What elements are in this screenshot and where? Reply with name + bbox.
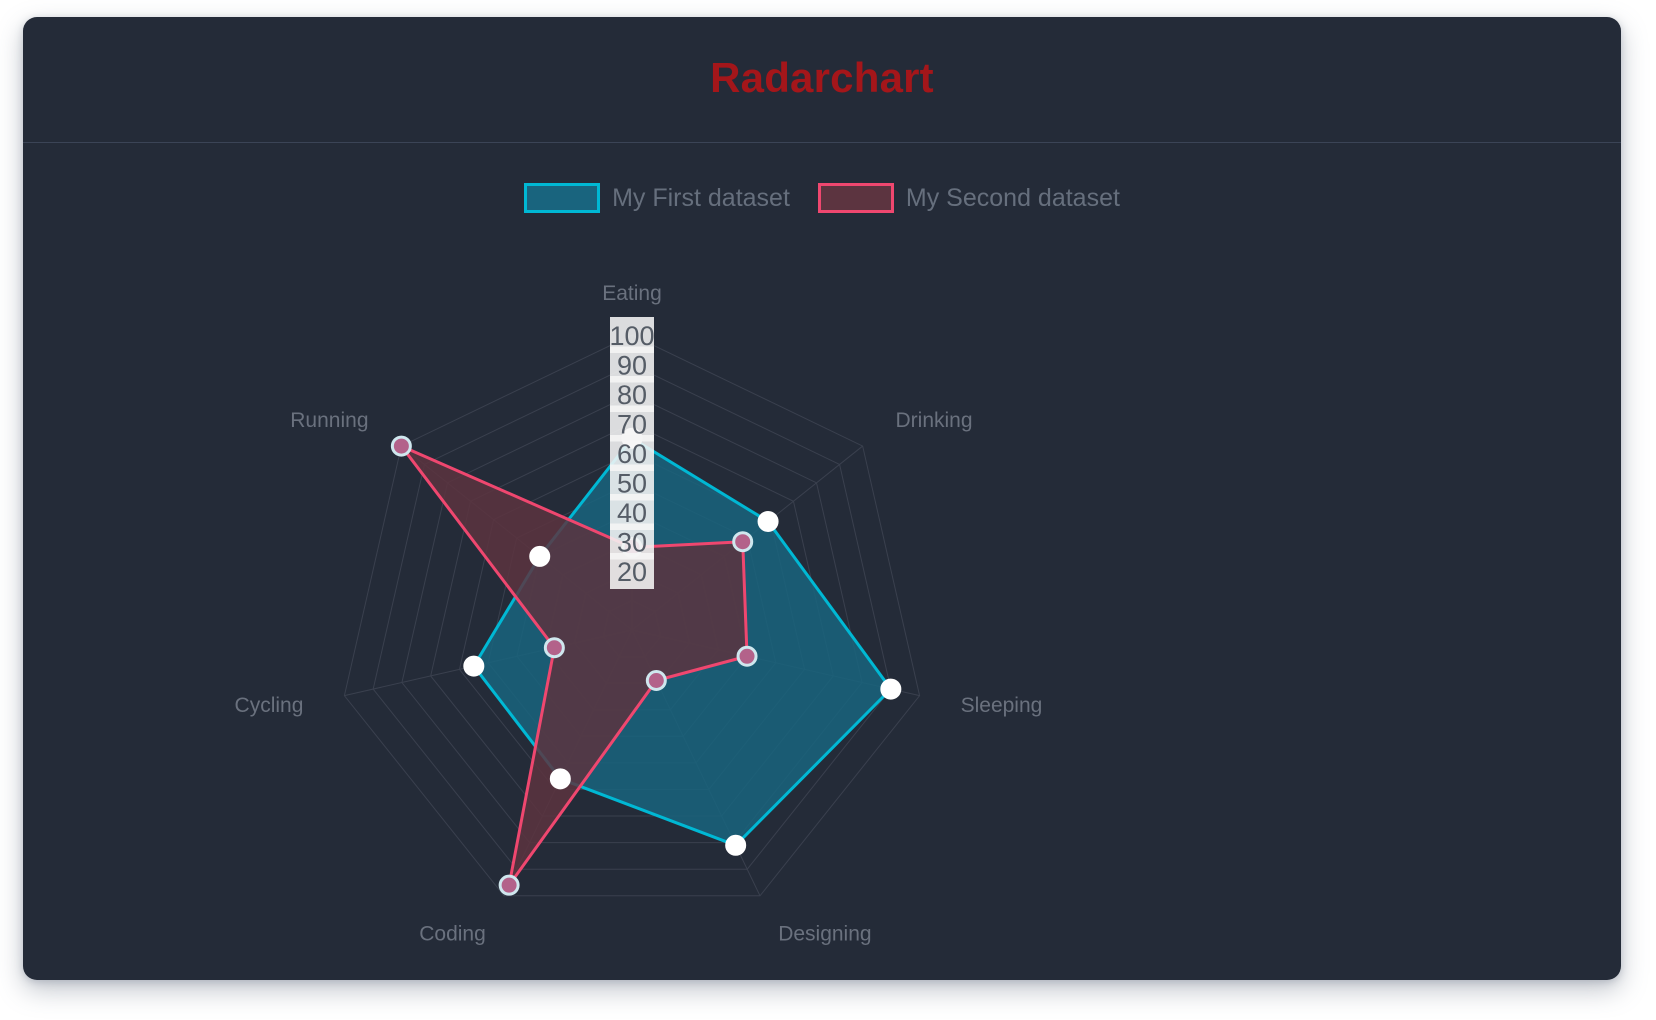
axis-label-cycling: Cycling (235, 694, 304, 717)
data-point[interactable] (882, 680, 900, 698)
data-point[interactable] (465, 657, 483, 675)
axis-label-coding: Coding (419, 923, 486, 946)
chart-panel: Radarchart My First dataset My Second da… (23, 17, 1621, 980)
data-point[interactable] (734, 533, 752, 551)
tick-label: 40 (617, 498, 647, 528)
axis-label-drinking: Drinking (896, 409, 973, 432)
data-point[interactable] (551, 770, 569, 788)
tick-label: 80 (617, 380, 647, 410)
tick-label: 100 (609, 321, 654, 351)
data-point[interactable] (392, 437, 410, 455)
page-root: Radarchart My First dataset My Second da… (0, 0, 1656, 1020)
radar-chart-svg: EatingDrinkingSleepingDesigningCodingCyc… (23, 17, 1621, 980)
data-point[interactable] (531, 547, 549, 565)
axis-label-designing: Designing (778, 923, 871, 946)
axis-label-eating: Eating (602, 282, 662, 305)
data-point[interactable] (727, 836, 745, 854)
radar-chart: EatingDrinkingSleepingDesigningCodingCyc… (23, 17, 1621, 980)
axis-label-running: Running (290, 409, 368, 432)
data-point[interactable] (759, 512, 777, 530)
tick-label: 20 (617, 557, 647, 587)
tick-label: 50 (617, 469, 647, 499)
tick-label: 70 (617, 410, 647, 440)
tick-label: 30 (617, 528, 647, 558)
axis-label-sleeping: Sleeping (961, 694, 1043, 717)
data-point[interactable] (545, 639, 563, 657)
data-point[interactable] (738, 647, 756, 665)
tick-label: 60 (617, 439, 647, 469)
data-point[interactable] (500, 876, 518, 894)
radar-tick-labels: 2030405060708090100 (609, 317, 654, 589)
data-point[interactable] (647, 672, 665, 690)
tick-label: 90 (617, 351, 647, 381)
